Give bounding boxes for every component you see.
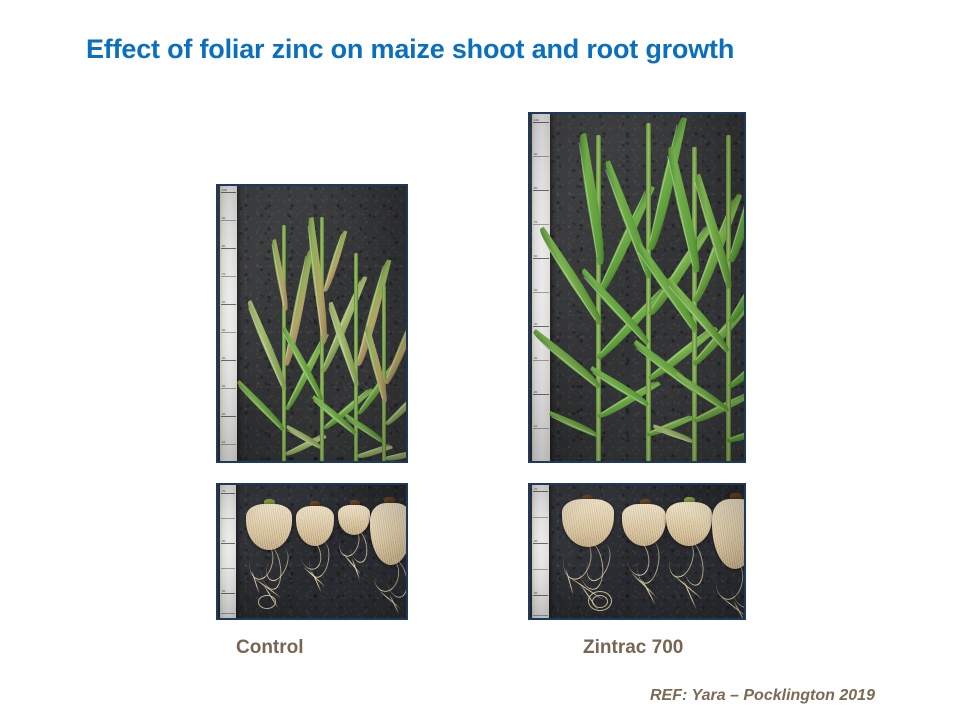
zintrac-shoots-photo: 100 90 80 70 60 50 40 30 20 10 bbox=[528, 112, 746, 463]
measuring-ruler: 100 90 80 70 60 50 40 30 20 10 bbox=[220, 186, 237, 461]
maize-root-ball bbox=[368, 497, 408, 613]
control-shoots-photo: 100 90 80 70 60 50 40 30 20 10 bbox=[216, 184, 408, 463]
caption-control: Control bbox=[236, 637, 304, 659]
control-roots-photo: 70 60 50 bbox=[216, 483, 408, 620]
maize-root-ball bbox=[664, 497, 716, 609]
zintrac-roots-photo: 70 60 50 bbox=[528, 483, 746, 620]
maize-plant bbox=[370, 281, 408, 461]
maize-root-ball bbox=[560, 495, 618, 620]
maize-root-ball bbox=[294, 501, 340, 601]
caption-zintrac: Zintrac 700 bbox=[583, 637, 683, 659]
reference-note: REF: Yara – Pocklington 2019 bbox=[650, 687, 875, 705]
measuring-ruler: 70 60 50 bbox=[220, 485, 236, 618]
slide-root: { "slide": { "title": "Effect of foliar … bbox=[0, 0, 960, 720]
maize-plant bbox=[708, 131, 746, 461]
measuring-ruler: 70 60 50 bbox=[532, 485, 549, 618]
page-title: Effect of foliar zinc on maize shoot and… bbox=[86, 34, 886, 65]
maize-root-ball bbox=[244, 499, 294, 617]
measuring-ruler: 100 90 80 70 60 50 40 30 20 10 bbox=[532, 114, 550, 461]
maize-root-ball bbox=[710, 493, 746, 620]
